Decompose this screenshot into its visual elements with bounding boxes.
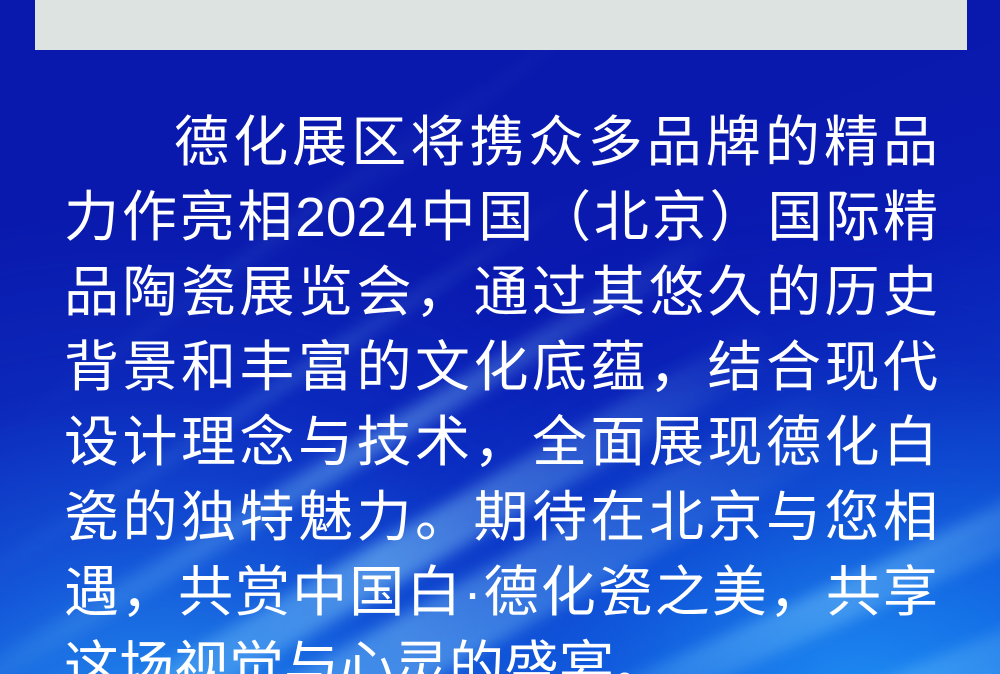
poster-canvas: 德化展区将携众多品牌的精品力作亮相2024中国（北京）国际精品陶瓷展览会，通过其… bbox=[0, 0, 1000, 674]
image-strip bbox=[35, 0, 967, 50]
body-paragraph: 德化展区将携众多品牌的精品力作亮相2024中国（北京）国际精品陶瓷展览会，通过其… bbox=[64, 105, 938, 674]
